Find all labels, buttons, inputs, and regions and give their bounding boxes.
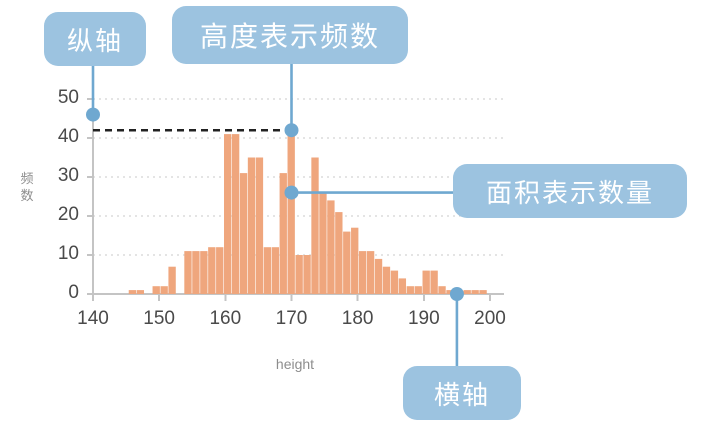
y-tick-label: 0 bbox=[45, 282, 79, 304]
callout-area-count[interactable]: 面积表示数量 bbox=[453, 164, 687, 218]
histogram-bar bbox=[137, 290, 144, 294]
callout-area-count-label: 面积表示数量 bbox=[486, 173, 654, 210]
histogram-bar bbox=[367, 251, 374, 294]
histogram-bar bbox=[343, 232, 350, 294]
histogram-bar bbox=[295, 255, 302, 294]
x-tick-label: 200 bbox=[463, 308, 517, 330]
histogram-bar bbox=[168, 267, 175, 294]
histogram-bar bbox=[464, 290, 471, 294]
x-tick-label: 140 bbox=[66, 308, 120, 330]
histogram-bar bbox=[216, 247, 223, 294]
y-tick-label: 40 bbox=[45, 126, 79, 148]
callout-x-axis[interactable]: 横轴 bbox=[403, 366, 521, 420]
x-tick-label: 190 bbox=[397, 308, 451, 330]
histogram-bar bbox=[248, 158, 255, 295]
histogram-bar bbox=[479, 290, 486, 294]
callout-height-frequency[interactable]: 高度表示频数 bbox=[172, 6, 408, 64]
callout-y-axis-label: 纵轴 bbox=[67, 21, 123, 58]
histogram-bar bbox=[391, 271, 398, 294]
histogram-svg bbox=[0, 0, 720, 442]
callout-height-frequency-label: 高度表示频数 bbox=[200, 15, 380, 55]
histogram-bar bbox=[208, 247, 215, 294]
y-tick-label: 50 bbox=[45, 87, 79, 109]
histogram-bar bbox=[407, 286, 414, 294]
y-tick-label: 30 bbox=[45, 165, 79, 187]
x-tick-label: 160 bbox=[198, 308, 252, 330]
y-axis-marker bbox=[86, 108, 100, 122]
x-tick-label: 150 bbox=[132, 308, 186, 330]
chart-canvas: 纵轴 高度表示频数 面积表示数量 横轴 频数 height 5040302010… bbox=[0, 0, 720, 442]
histogram-bar bbox=[256, 158, 263, 295]
histogram-bar bbox=[399, 278, 406, 294]
histogram-bar bbox=[351, 228, 358, 294]
callout-x-axis-label: 横轴 bbox=[434, 375, 490, 412]
histogram-bar bbox=[232, 134, 239, 294]
area-marker bbox=[285, 186, 299, 200]
y-tick-label: 10 bbox=[45, 243, 79, 265]
histogram-bar bbox=[335, 212, 342, 294]
histogram-bar bbox=[272, 247, 279, 294]
histogram-bar bbox=[415, 286, 422, 294]
histogram-bar bbox=[184, 251, 191, 294]
x-axis-marker bbox=[450, 287, 464, 301]
histogram-bar bbox=[471, 290, 478, 294]
x-axis-title: height bbox=[265, 356, 325, 372]
histogram-bar bbox=[160, 286, 167, 294]
bars-group bbox=[129, 130, 487, 294]
histogram-bar bbox=[288, 130, 295, 294]
y-tick-label: 20 bbox=[45, 204, 79, 226]
histogram-bar bbox=[192, 251, 199, 294]
histogram-bar bbox=[224, 134, 231, 294]
histogram-bar bbox=[319, 193, 326, 294]
callout-y-axis[interactable]: 纵轴 bbox=[44, 12, 146, 66]
peak-marker bbox=[285, 123, 299, 137]
x-tick-label: 180 bbox=[331, 308, 385, 330]
y-axis-title: 频数 bbox=[16, 170, 38, 204]
histogram-bar bbox=[359, 251, 366, 294]
histogram-bar bbox=[327, 200, 334, 294]
histogram-bar bbox=[430, 271, 437, 294]
histogram-bar bbox=[311, 158, 318, 295]
histogram-bar bbox=[438, 286, 445, 294]
histogram-bar bbox=[383, 267, 390, 294]
histogram-bar bbox=[240, 173, 247, 294]
histogram-bar bbox=[153, 286, 160, 294]
histogram-bar bbox=[200, 251, 207, 294]
histogram-bar bbox=[423, 271, 430, 294]
histogram-bar bbox=[375, 259, 382, 294]
histogram-bar bbox=[303, 255, 310, 294]
histogram-bar bbox=[129, 290, 136, 294]
x-tick-label: 170 bbox=[265, 308, 319, 330]
histogram-bar bbox=[264, 247, 271, 294]
